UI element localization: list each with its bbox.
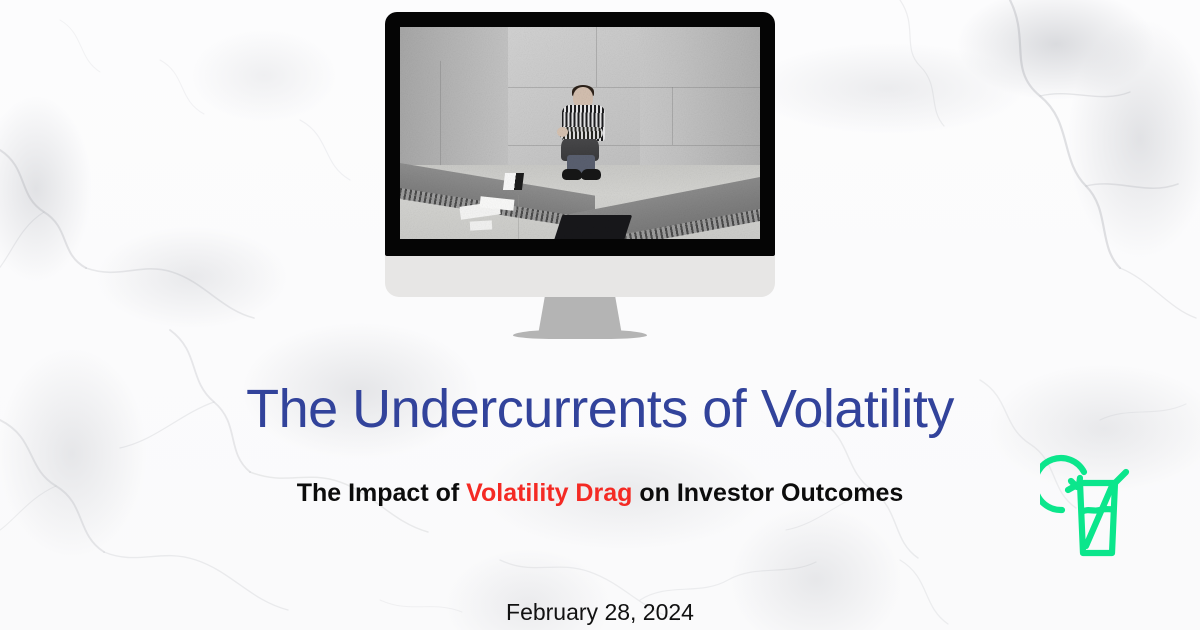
subtitle-highlight: Volatility Drag bbox=[466, 479, 632, 507]
monitor-chin bbox=[385, 256, 775, 297]
publish-date: February 28, 2024 bbox=[0, 599, 1200, 627]
page-title: The Undercurrents of Volatility bbox=[0, 380, 1200, 439]
subtitle-suffix: on Investor Outcomes bbox=[632, 479, 903, 507]
photo-grain-texture bbox=[400, 27, 760, 239]
monitor-mockup bbox=[385, 12, 775, 332]
subtitle-prefix: The Impact of bbox=[297, 479, 466, 507]
slide-canvas: The Undercurrents of Volatility The Impa… bbox=[0, 0, 1200, 630]
monitor-stand-foot bbox=[513, 330, 647, 339]
monitor-screen bbox=[400, 27, 760, 239]
lemonade-glass-icon bbox=[1040, 448, 1170, 588]
brand-logo bbox=[1040, 448, 1170, 588]
hero-photo bbox=[400, 27, 760, 239]
subtitle: The Impact of Volatility Drag on Investo… bbox=[0, 478, 1200, 508]
